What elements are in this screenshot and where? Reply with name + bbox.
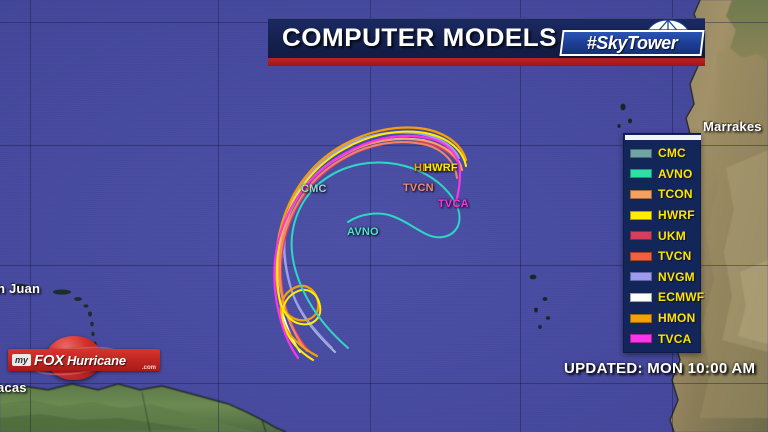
legend-swatch-ukm (630, 231, 652, 240)
legend-swatch-tcon (630, 190, 652, 199)
legend-row-tvca: TVCA (624, 328, 700, 349)
legend-row-hwrf: HWRF (624, 205, 700, 226)
legend-label-tvcn: TVCN (658, 249, 691, 263)
legend-row-tcon: TCON (624, 184, 700, 205)
legend-swatch-tvca (630, 334, 652, 343)
legend-swatch-hwrf (630, 211, 652, 220)
fox-brand-text: FOX (34, 352, 64, 369)
city-label-marrakesh: Marrakes (703, 119, 762, 134)
track-label-tvcn: TVCN (403, 182, 434, 194)
track-label-avno: AVNO (347, 226, 379, 238)
model-legend: CMCAVNOTCONHWRFUKMTVCNNVGMECMWFHMONTVCA (623, 133, 701, 353)
city-label-san-juan: n Juan (0, 281, 40, 296)
legend-swatch-hmon (630, 314, 652, 323)
fox-hurricane-text: Hurricane (67, 353, 126, 368)
skytower-sky: Sky (596, 33, 627, 54)
legend-label-ukm: UKM (658, 229, 686, 243)
fox-nameplate: my FOX Hurricane .com (8, 349, 160, 371)
legend-label-ecmwf: ECMWF (658, 290, 704, 304)
legend-row-ecmwf: ECMWF (624, 287, 700, 308)
city-label-caracas: acas (0, 380, 27, 395)
updated-timestamp: UPDATED: MON 10:00 AM (564, 360, 755, 377)
legend-row-ukm: UKM (624, 225, 700, 246)
skytower-tower: Tower (627, 33, 677, 54)
legend-label-tcon: TCON (658, 187, 693, 201)
legend-top-accent (625, 135, 701, 140)
legend-label-hwrf: HWRF (658, 208, 695, 222)
legend-row-avno: AVNO (624, 164, 700, 185)
skytower-hash: # (587, 33, 597, 54)
legend-list: CMCAVNOTCONHWRFUKMTVCNNVGMECMWFHMONTVCA (624, 143, 700, 349)
banner-red-accent (268, 58, 705, 66)
legend-swatch-avno (630, 169, 652, 178)
track-label-tvca: TVCA (438, 198, 469, 210)
legend-row-tvcn: TVCN (624, 246, 700, 267)
legend-swatch-cmc (630, 149, 652, 158)
track-label-hwrf: HWRF (424, 162, 458, 174)
legend-label-nvgm: NVGM (658, 270, 695, 284)
my-fox-hurricane-logo: my FOX Hurricane .com (8, 336, 160, 382)
legend-swatch-tvcn (630, 252, 652, 261)
fox-my-text: my (12, 354, 31, 366)
legend-swatch-nvgm (630, 272, 652, 281)
weather-graphic: CMC AVNO HMON HWRF TVCN TVCA Marrakes n … (0, 0, 768, 432)
legend-row-nvgm: NVGM (624, 267, 700, 288)
legend-label-cmc: CMC (658, 146, 686, 160)
legend-swatch-ecmwf (630, 293, 652, 302)
skytower-wordmark: #SkyTower (561, 30, 703, 56)
fox-dotcom-text: .com (142, 365, 156, 371)
legend-label-avno: AVNO (658, 167, 693, 181)
legend-row-cmc: CMC (624, 143, 700, 164)
skytower-logo: #SkyTower (561, 22, 703, 56)
track-label-cmc: CMC (301, 183, 327, 195)
legend-row-hmon: HMON (624, 308, 700, 329)
legend-label-tvca: TVCA (658, 332, 691, 346)
legend-label-hmon: HMON (658, 311, 695, 325)
page-title: COMPUTER MODELS (282, 24, 557, 53)
